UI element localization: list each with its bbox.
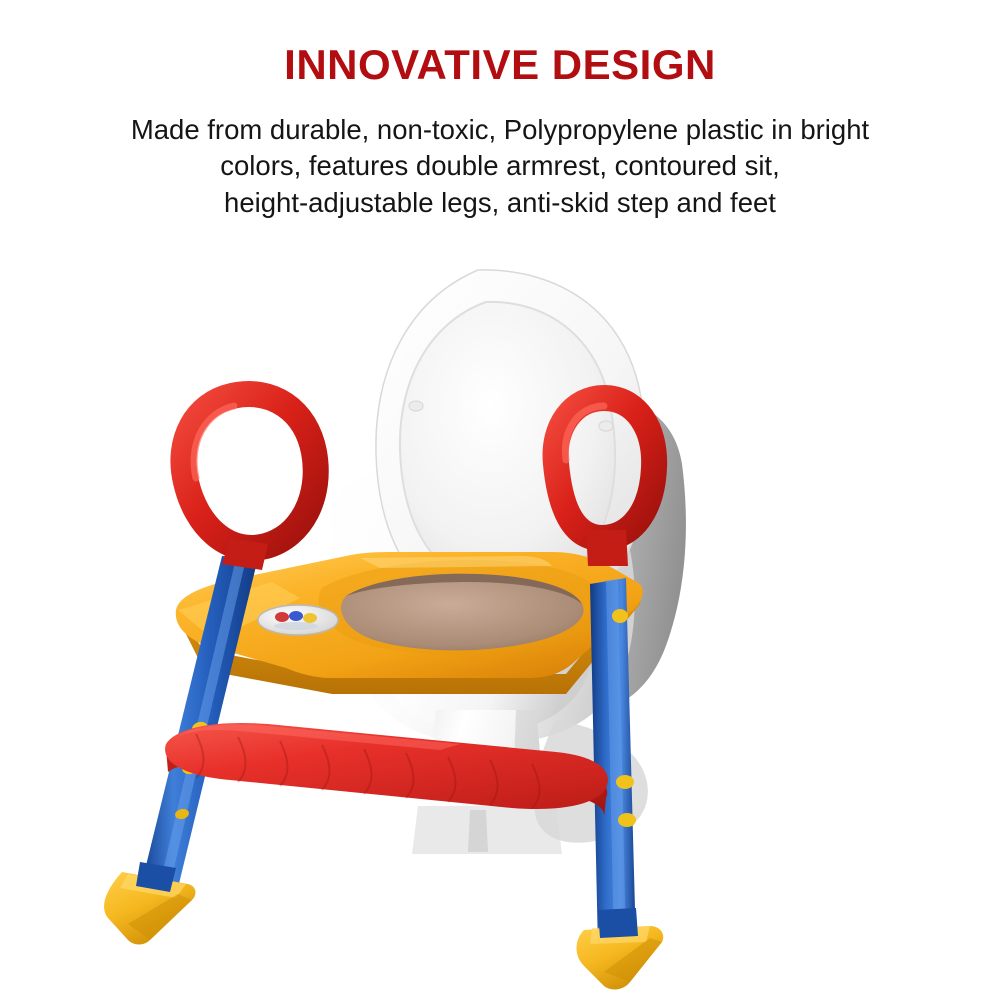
handle-left[interactable] xyxy=(183,394,315,570)
foot-right xyxy=(577,908,664,989)
lid-bumper xyxy=(409,401,423,411)
seat-sticker xyxy=(258,605,338,635)
seat-sheen xyxy=(360,556,552,568)
foot-right-leg-end xyxy=(598,908,638,938)
toilet-floor-plate-shade xyxy=(468,810,488,852)
copy-block: INNOVATIVE DESIGN Made from durable, non… xyxy=(0,0,1000,221)
leg-adjust-button[interactable] xyxy=(616,775,634,789)
toilet-lid-inner xyxy=(400,302,615,591)
description-line-2: colors, features double armrest, contour… xyxy=(60,148,940,184)
handle-left-ring[interactable] xyxy=(183,394,315,548)
handle-right-stem xyxy=(586,530,628,566)
product-feature-panel: INNOVATIVE DESIGN Made from durable, non… xyxy=(0,0,1000,1000)
leg-adjust-button[interactable] xyxy=(612,609,628,623)
leg-adjust-button[interactable] xyxy=(618,813,636,827)
product-image: Yellow child toilet seat with red grab h… xyxy=(0,258,1000,1000)
page-title: INNOVATIVE DESIGN xyxy=(0,0,1000,86)
foot-left xyxy=(104,862,195,945)
description-line-3: height-adjustable legs, anti-skid step a… xyxy=(60,185,940,221)
description-line-1: Made from durable, non-toxic, Polypropyl… xyxy=(60,112,940,148)
product-illustration: Yellow child toilet seat with red grab h… xyxy=(0,258,1000,1000)
feature-description: Made from durable, non-toxic, Polypropyl… xyxy=(60,86,940,221)
lid-bumper xyxy=(599,421,613,431)
